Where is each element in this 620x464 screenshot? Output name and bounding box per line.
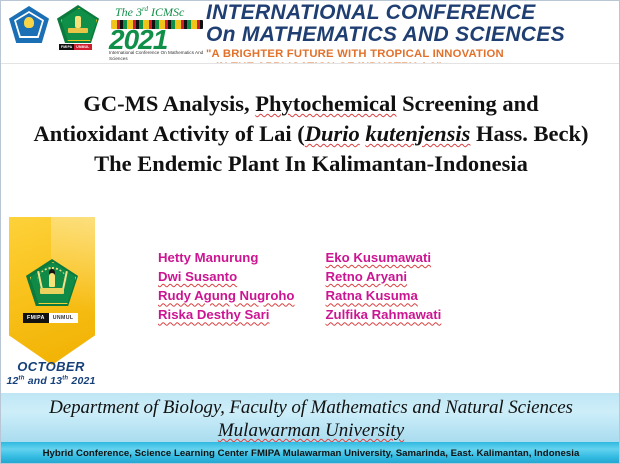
- author-name: Retno Aryani: [326, 267, 506, 286]
- ribbon-badge-fmipa: FMIPA: [23, 313, 49, 323]
- author-name: Eko Kusumawati: [326, 248, 506, 267]
- event-days-label: 12th and 13th 2021: [1, 375, 101, 387]
- author-list: Hetty Manurung Dwi Susanto Rudy Agung Nu…: [158, 248, 506, 325]
- author-name: Dwi Susanto: [158, 267, 295, 286]
- department-line: Department of Biology, Faculty of Mathem…: [1, 396, 620, 419]
- author-column-1: Hetty Manurung Dwi Susanto Rudy Agung Nu…: [158, 248, 295, 325]
- author-name: Ratna Kusuma: [326, 286, 506, 305]
- conference-theme-line2: IN THE APPLICATION OF INDUSTRY 4.0": [216, 61, 620, 64]
- title-spellcheck-phytochemical: Phytochemical: [255, 91, 396, 116]
- tut-wuri-handayani-logo-icon: [7, 4, 51, 44]
- icmsc-edition-label: The 3rd ICMSc: [115, 5, 184, 20]
- conference-theme-line1: "A BRIGHTER FUTURE WITH TROPICAL INNOVAT…: [206, 48, 620, 62]
- conference-header-banner: FMIPA UNMUL The 3rd ICMSc 2021 Internati…: [1, 1, 620, 64]
- conference-banner-text: INTERNATIONAL CONFERENCE On MATHEMATICS …: [206, 2, 620, 64]
- title-line-2: Antioxidant Activity of Lai (Durio kuten…: [17, 119, 605, 149]
- venue-text: Hybrid Conference, Science Learning Cent…: [43, 448, 580, 459]
- mulawarman-university-logo-icon: FMIPA UNMUL: [55, 4, 101, 48]
- ribbon-badge-group: FMIPA UNMUL: [23, 313, 78, 323]
- presentation-title: GC-MS Analysis, Phytochemical Screening …: [17, 89, 605, 179]
- affiliation-band: Department of Biology, Faculty of Mathem…: [1, 393, 620, 442]
- icmsc-subtitle-label: International Conference On Mathematics …: [109, 50, 209, 61]
- author-name: Hetty Manurung: [158, 248, 295, 267]
- venue-strip: Hybrid Conference, Science Learning Cent…: [1, 442, 620, 464]
- ribbon-badge-unmul: UNMUL: [49, 313, 78, 323]
- ribbon-university-logo-icon: [26, 259, 78, 309]
- title-line-3: The Endemic Plant In Kalimantan-Indonesi…: [17, 149, 605, 179]
- presentation-slide: FMIPA UNMUL The 3rd ICMSc 2021 Internati…: [0, 0, 620, 464]
- header-logo-group: FMIPA UNMUL The 3rd ICMSc 2021 Internati…: [7, 4, 207, 60]
- conference-title-line2: On MATHEMATICS AND SCIENCES: [206, 24, 620, 46]
- conference-title-line1: INTERNATIONAL CONFERENCE: [206, 2, 620, 24]
- header-badge-fmipa: FMIPA: [59, 44, 74, 50]
- event-month-label: OCTOBER: [1, 359, 101, 374]
- event-ribbon-banner: FMIPA UNMUL: [9, 217, 95, 365]
- header-badge-unmul: UNMUL: [74, 44, 91, 50]
- university-line: Mulawarman University: [1, 419, 620, 442]
- icmsc-2021-logo: The 3rd ICMSc 2021 International Confere…: [107, 4, 207, 60]
- author-name: Rudy Agung Nugroho: [158, 286, 295, 305]
- author-column-2: Eko Kusumawati Retno Aryani Ratna Kusuma…: [326, 248, 506, 325]
- title-species-epithet: kutenjensis: [365, 121, 470, 146]
- author-name: Riska Desthy Sari: [158, 305, 295, 324]
- title-line-1: GC-MS Analysis, Phytochemical Screening …: [17, 89, 605, 119]
- event-date-block: OCTOBER 12th and 13th 2021: [1, 359, 101, 387]
- author-name: Zulfika Rahmawati: [326, 305, 506, 324]
- title-species-genus: Durio: [305, 121, 360, 146]
